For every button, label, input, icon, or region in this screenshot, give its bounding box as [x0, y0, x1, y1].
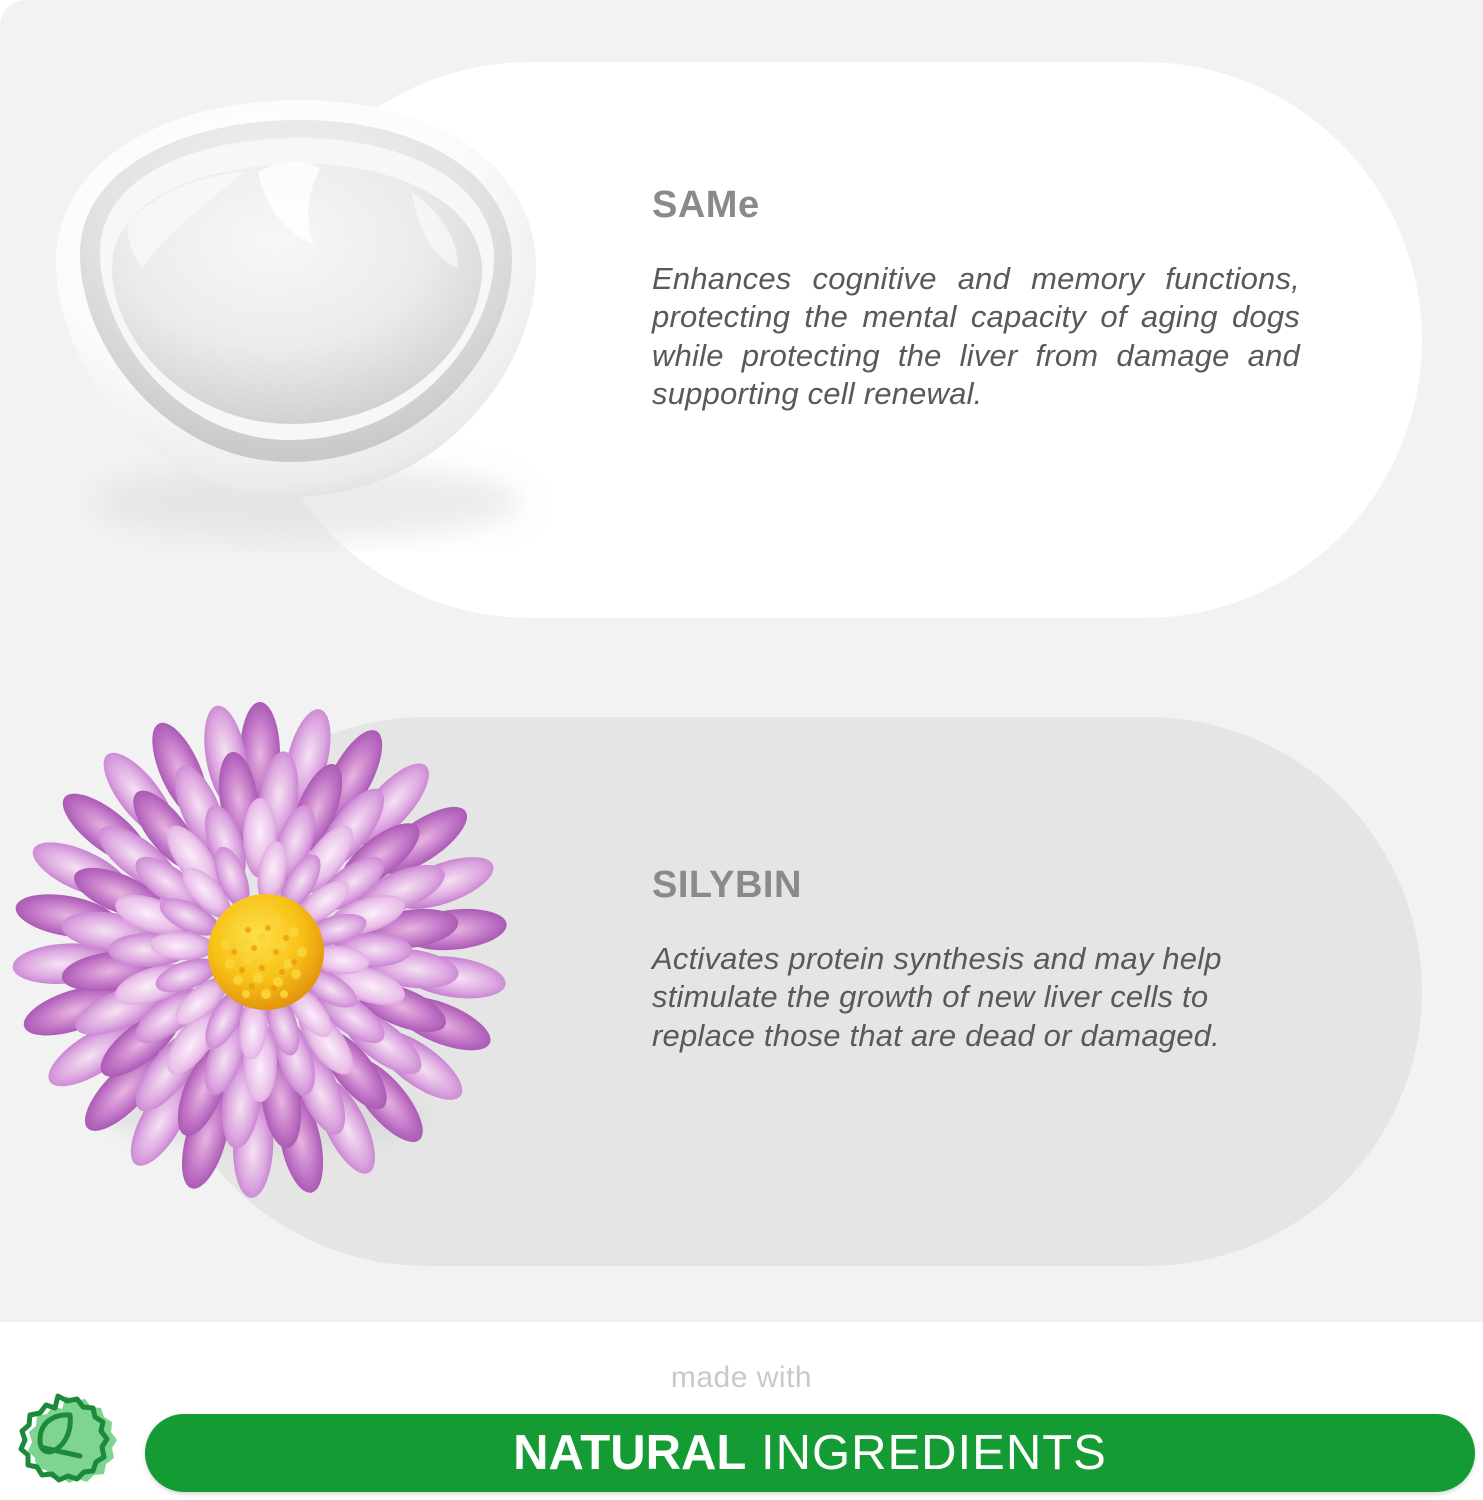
leaf-badge-icon [4, 1388, 120, 1500]
ingredient-description-same: Enhances cognitive and memory functions,… [652, 260, 1300, 414]
ingredient-title-same: SAMe [652, 186, 1300, 226]
ingredient-description-silybin: Activates protein synthesis and may help… [652, 940, 1302, 1055]
ingredient-text-silybin: SILYBIN Activates protein synthesis and … [652, 866, 1302, 1055]
made-with-label: made with [0, 1361, 1483, 1395]
ingredient-title-silybin: SILYBIN [652, 866, 1302, 906]
natural-ingredients-banner: NATURAL INGREDIENTS [145, 1414, 1475, 1492]
purple-aster-flower-image [10, 700, 510, 1200]
banner-text-strong: NATURAL [513, 1426, 746, 1480]
bowl-of-white-powder-image [8, 72, 588, 552]
banner-text: NATURAL INGREDIENTS [513, 1425, 1107, 1481]
infographic-canvas: SAMe Enhances cognitive and memory funct… [0, 0, 1483, 1500]
banner-text-light: INGREDIENTS [761, 1426, 1107, 1480]
ingredient-text-same: SAMe Enhances cognitive and memory funct… [652, 186, 1300, 414]
